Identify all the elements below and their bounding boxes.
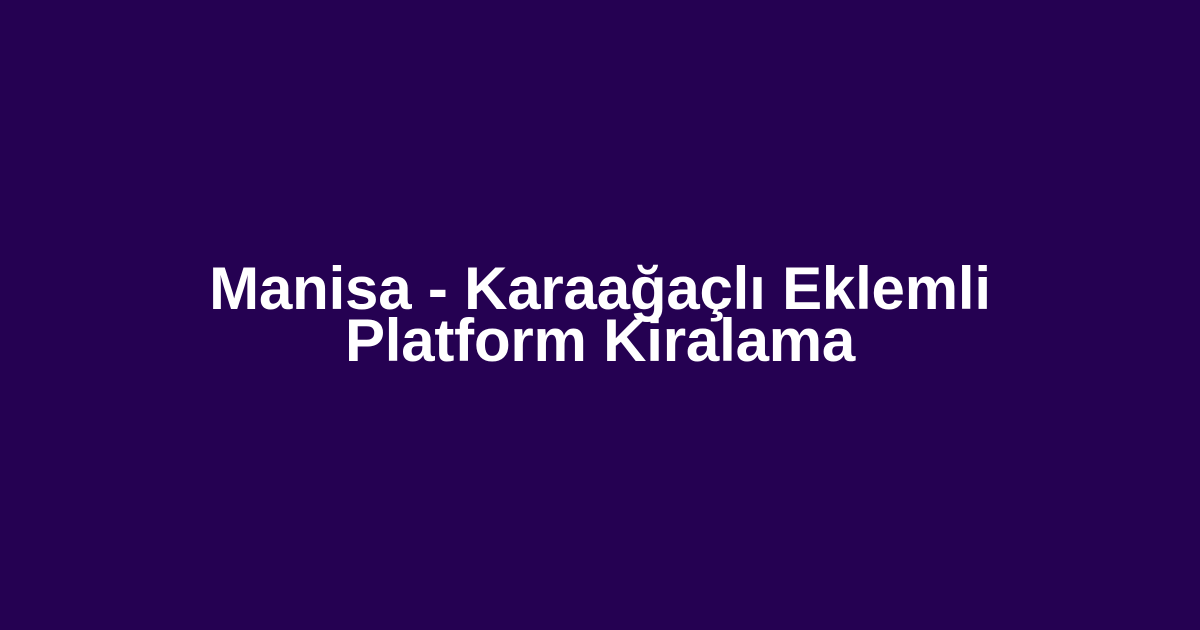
page-title: Manisa - Karaağaçlı Eklemli Platform Kir… [120, 263, 1080, 367]
title-block: Manisa - Karaağaçlı Eklemli Platform Kir… [120, 263, 1080, 367]
og-share-card: Manisa - Karaağaçlı Eklemli Platform Kir… [0, 0, 1200, 630]
